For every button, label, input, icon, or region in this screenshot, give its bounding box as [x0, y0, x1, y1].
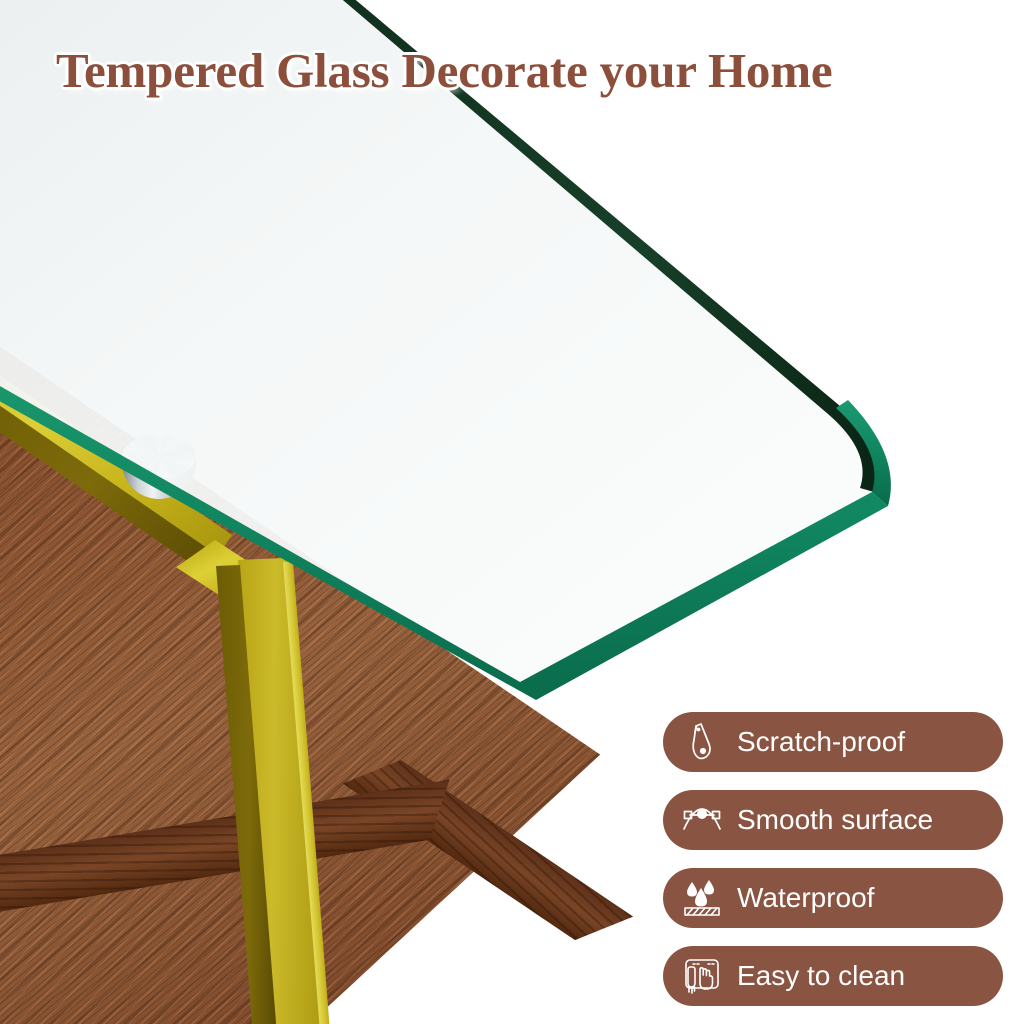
bezier-curve-icon	[679, 798, 725, 842]
feature-badge-label: Scratch-proof	[737, 726, 905, 758]
page-title: Tempered Glass Decorate your Home	[56, 42, 832, 99]
feature-badge-smooth-surface[interactable]: Smooth surface	[663, 790, 1003, 850]
water-drops-surface-icon	[679, 876, 725, 920]
utility-knife-icon	[679, 720, 725, 764]
feature-badge-label: Waterproof	[737, 882, 874, 914]
feature-badge-label: Smooth surface	[737, 804, 933, 836]
product-feature-image: Tempered Glass Decorate your Home Scratc…	[0, 0, 1024, 1024]
feature-badge-scratch-proof[interactable]: Scratch-proof	[663, 712, 1003, 772]
hand-wipe-cloth-icon	[679, 954, 725, 998]
feature-badge-list: Scratch-proof Smooth surface	[663, 712, 1003, 1006]
feature-badge-waterproof[interactable]: Waterproof	[663, 868, 1003, 928]
feature-badge-easy-to-clean[interactable]: Easy to clean	[663, 946, 1003, 1006]
feature-badge-label: Easy to clean	[737, 960, 905, 992]
